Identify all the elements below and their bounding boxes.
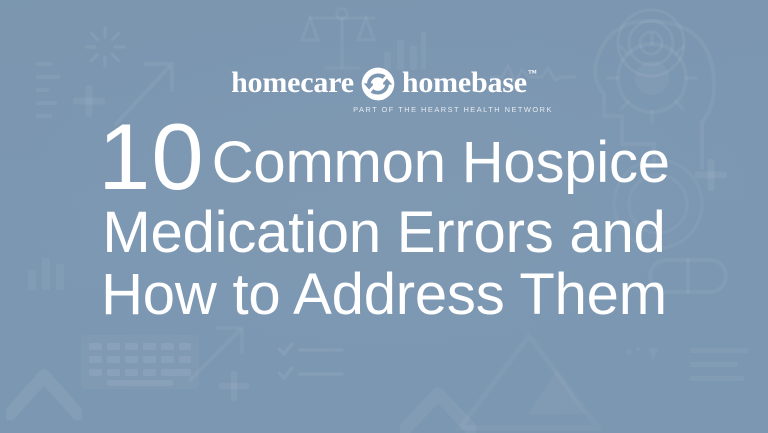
logo-wordmark-row: homecare homebase ™: [231, 66, 537, 100]
logo-tagline: PART OF THE HEARST HEALTH NETWORK: [353, 105, 553, 114]
logo-word-homebase: homebase: [402, 68, 527, 98]
cycle-arrows-circle-icon: [361, 67, 395, 101]
slide-content: homecare homebase ™ PART OF THE HEARST H…: [0, 0, 768, 433]
title-number: 10: [98, 104, 212, 209]
page-title: 10Common Hospice Medication Errors and H…: [0, 118, 768, 326]
title-line-1-rest: Common Hospice: [212, 130, 670, 195]
trademark-symbol: ™: [528, 69, 537, 78]
title-line-2: Medication Errors and: [0, 202, 768, 264]
title-slide: homecare homebase ™ PART OF THE HEARST H…: [0, 0, 768, 433]
title-line-3: How to Address Them: [0, 264, 768, 326]
title-line-1: 10Common Hospice: [0, 118, 768, 202]
logo-word-homecare: homecare: [231, 68, 354, 98]
